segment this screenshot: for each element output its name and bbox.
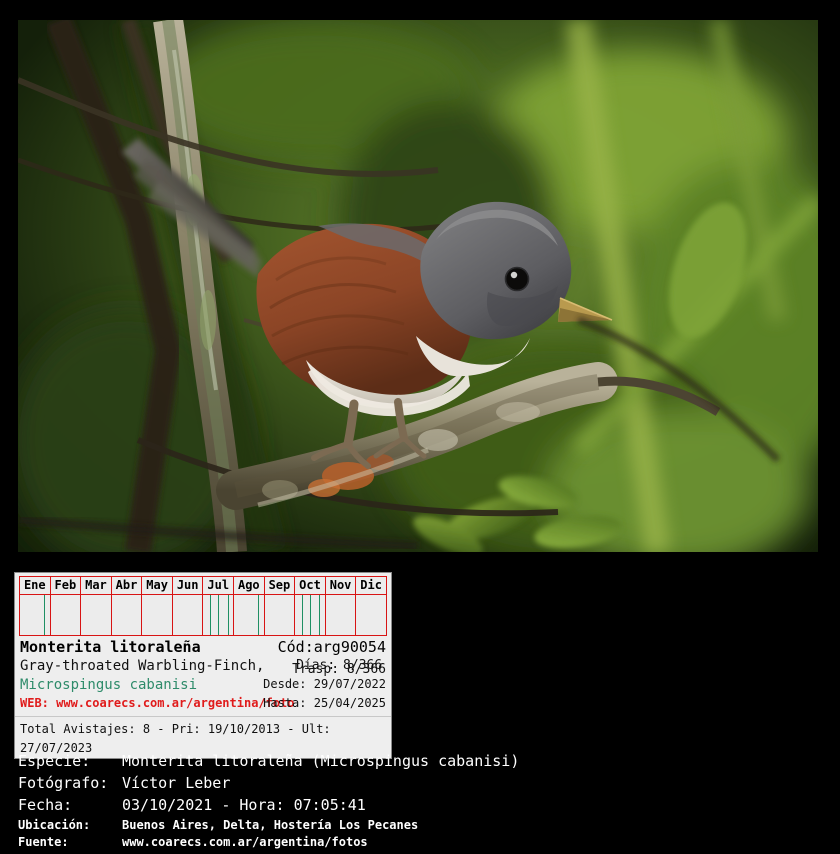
calendar-month-ago: Ago [234,577,265,594]
desde-label: Desde: [263,677,306,691]
row-common-name: Monterita litoraleña Cód:arg90054 [20,638,386,658]
ubicacion-value: Buenos Aires, Delta, Hostería Los Pecane… [122,818,418,832]
calendar-month-nov: Nov [326,577,357,594]
calendar-month-mar: Mar [81,577,112,594]
species-common-name-en: Gray-throated Warbling-Finch, [20,658,264,674]
bird-photograph [18,20,818,552]
caption-row-fuente: Fuente: www.coarecs.com.ar/argentina/fot… [18,835,818,852]
species-web-link[interactable]: WEB: www.coarecs.com.ar/argentina/foto [20,696,295,710]
calendar-cell-dic [356,595,386,635]
calendar-cell-jul [203,595,234,635]
sighting-tick [319,595,320,635]
species-code: Cód:arg90054 [278,638,386,656]
calendar-cell-may [142,595,173,635]
calendar-cell-feb [51,595,82,635]
calendar-cell-mar [81,595,112,635]
desde-row: Desde: 29/07/2022 [263,677,386,691]
fuente-label: Fuente: [18,835,122,849]
calendar-cell-sep [265,595,296,635]
calendar-cell-oct [295,595,326,635]
sighting-tick [44,595,45,635]
calendar-month-may: May [142,577,173,594]
sighting-tick [302,595,303,635]
sighting-tick [310,595,311,635]
especie-label: Especie: [18,752,122,770]
calendar-month-sep: Sep [265,577,296,594]
caption-row-fecha: Fecha: 03/10/2021 - Hora: 07:05:41 [18,796,818,818]
calendar-month-jul: Jul [203,577,234,594]
fecha-label: Fecha: [18,796,122,814]
calendar-cell-ago [234,595,265,635]
sighting-tick [258,595,259,635]
row-web: WEB: www.coarecs.com.ar/argentina/foto H… [20,696,386,715]
calendar-month-header: Ene Feb Mar Abr May Jun Jul Ago Sep Oct … [20,577,386,595]
species-info-panel: Ene Feb Mar Abr May Jun Jul Ago Sep Oct … [14,572,392,759]
caption-row-especie: Especie: Monterita litoraleña (Microspin… [18,752,818,774]
fecha-value: 03/10/2021 - Hora: 07:05:41 [122,796,366,814]
calendar-tick-row [20,595,386,635]
calendar-cell-abr [112,595,143,635]
caption-row-ubicacion: Ubicación: Buenos Aires, Delta, Hostería… [18,818,818,835]
calendar-cell-jun [173,595,204,635]
monthly-sightings-calendar: Ene Feb Mar Abr May Jun Jul Ago Sep Oct … [19,576,387,636]
calendar-month-dic: Dic [356,577,386,594]
screenshot-root: Ene Feb Mar Abr May Jun Jul Ago Sep Oct … [0,0,840,854]
total-sightings-summary: Total Avistajes: 8 - Pri: 19/10/2013 - U… [20,722,331,755]
sighting-tick [218,595,219,635]
bird-photo-illustration [18,20,818,552]
especie-value: Monterita litoraleña (Microspingus caban… [122,752,519,770]
desde-value: 29/07/2022 [314,677,386,691]
species-common-name-es: Monterita litoraleña [20,638,201,656]
days-trasp-overlap: Trasp: 8/366 Días: 8/366 [292,658,386,677]
calendar-month-feb: Feb [51,577,82,594]
fuente-value[interactable]: www.coarecs.com.ar/argentina/fotos [122,835,368,849]
hasta-row: Hasta: 25/04/2025 [263,696,386,710]
fotografo-label: Fotógrafo: [18,774,122,792]
calendar-month-jun: Jun [173,577,204,594]
ubicacion-label: Ubicación: [18,818,122,832]
hasta-label: Hasta: [263,696,306,710]
sighting-tick [228,595,229,635]
calendar-month-abr: Abr [112,577,143,594]
hasta-value: 25/04/2025 [314,696,386,710]
calendar-cell-nov [326,595,357,635]
row-english-name: Gray-throated Warbling-Finch, Trasp: 8/3… [20,658,386,677]
species-scientific-name: Microspingus cabanisi [20,677,197,693]
calendar-month-ene: Ene [20,577,51,594]
fotografo-value: Víctor Leber [122,774,230,792]
sighting-tick [210,595,211,635]
calendar-month-oct: Oct [295,577,326,594]
caption-row-fotografo: Fotógrafo: Víctor Leber [18,774,818,796]
species-text-block: Monterita litoraleña Cód:arg90054 Gray-t… [15,636,391,715]
row-scientific-name: Microspingus cabanisi Desde: 29/07/2022 [20,677,386,696]
photo-caption-block: Especie: Monterita litoraleña (Microspin… [18,752,818,852]
calendar-cell-ene [20,595,51,635]
days-count: Días: 8/366 [296,658,382,673]
